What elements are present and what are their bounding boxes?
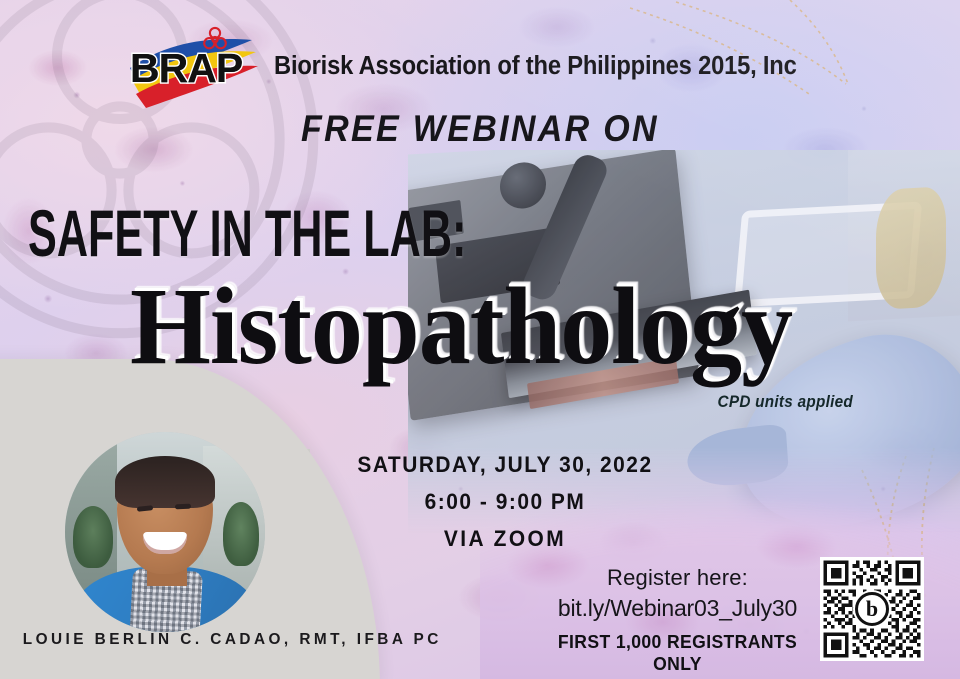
bitly-logo-icon: b [853,590,891,628]
schedule-block: SATURDAY, JULY 30, 2022 6:00 - 9:00 PM V… [330,452,680,552]
registration-limit: FIRST 1,000 REGISTRANTS ONLY [552,631,804,675]
qr-code[interactable]: b [818,557,926,661]
title-line-1: SAFETY IN THE LAB: [28,196,466,272]
schedule-venue: VIA ZOOM [339,526,672,552]
register-label: Register here: [545,565,810,591]
registration-block: Register here: bit.ly/Webinar03_July30 F… [545,565,810,675]
registration-link[interactable]: bit.ly/Webinar03_July30 [545,595,810,622]
schedule-date: SATURDAY, JULY 30, 2022 [339,452,672,478]
poster-header: BRAP BRAP Biorisk Association of the Phi… [128,22,836,110]
speaker-name: LOUIE BERLIN C. CADAO, RMT, IFBA PC [23,631,442,649]
title-line-2: Histopathology [130,272,910,382]
webinar-poster: BRAP BRAP Biorisk Association of the Phi… [0,0,960,679]
organization-name: Biorisk Association of the Philippines 2… [274,52,797,81]
brap-logo-wordmark: BRAP [130,48,242,89]
bitly-logo-glyph: b [855,592,889,626]
title-line-2-wrapper: Histopathology [130,272,910,376]
cpd-note: CPD units applied [718,392,854,412]
eyebrow-text: FREE WEBINAR ON [38,108,921,150]
brap-logo: BRAP BRAP [128,22,260,110]
schedule-time: 6:00 - 9:00 PM [339,489,672,515]
speaker-avatar [65,432,265,632]
